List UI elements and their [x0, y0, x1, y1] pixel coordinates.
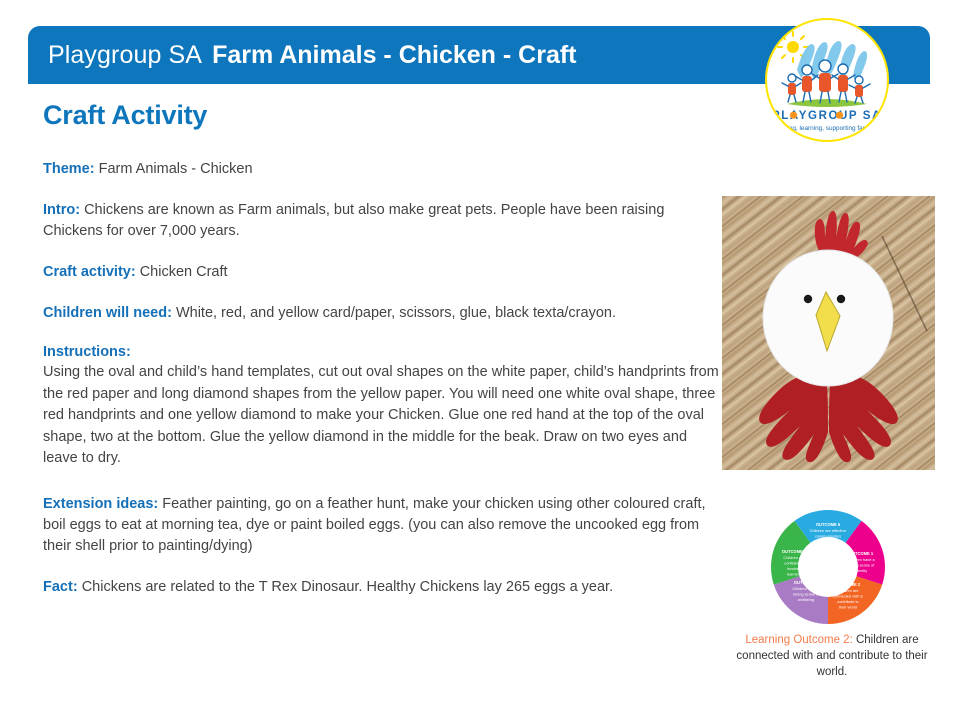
- children-will-need-value: White, red, and yellow card/paper, sciss…: [176, 305, 616, 321]
- craft-activity-value: Chicken Craft: [140, 264, 228, 280]
- craft-activity-line: Craft activity: Chicken Craft: [43, 262, 719, 283]
- wheel-label-outcome-3-line3: wellbeing: [798, 597, 814, 602]
- page-title: Craft Activity: [43, 100, 719, 131]
- wheel-label-outcome-2-line1: Children are: [837, 588, 858, 593]
- logo-dot-p: [790, 112, 797, 119]
- main-content: Craft Activity Theme: Farm Animals - Chi…: [43, 100, 719, 618]
- right-eye: [837, 295, 845, 303]
- learning-outcomes-wheel: OUTCOME 5 Children are effective communi…: [748, 508, 908, 626]
- wheel-label-outcome-2-title: OUTCOME 2: [836, 582, 861, 587]
- wheel-label-outcome-1-line1: Children have a: [847, 557, 875, 562]
- logo-dot-o: [836, 112, 843, 119]
- extension-ideas-line: Extension ideas: Feather painting, go on…: [43, 494, 719, 557]
- wheel-label-outcome-3-line2: strong sense of: [793, 592, 821, 597]
- wheel-label-outcome-1-line2: strong sense of: [848, 563, 876, 568]
- children-will-need-label: Children will need:: [43, 305, 172, 321]
- wheel-label-outcome-1-title: OUTCOME 1: [849, 551, 874, 556]
- extension-ideas-label: Extension ideas:: [43, 496, 158, 512]
- wheel-caption-accent: Learning Outcome 2:: [745, 634, 852, 646]
- brand-name: Playgroup SA: [48, 41, 202, 70]
- instructions-label: Instructions:: [43, 344, 719, 360]
- intro-label: Intro:: [43, 202, 80, 218]
- chicken-craft-artwork: [722, 196, 935, 470]
- craft-activity-label: Craft activity:: [43, 264, 136, 280]
- logo-artwork: PLAYGROUP SA Playing, learning, supporti…: [767, 20, 887, 140]
- logo-wordmark: PLAYGROUP SA: [772, 110, 882, 122]
- wheel-label-outcome-2-line3: contribute to: [837, 599, 858, 604]
- fact-label: Fact:: [43, 579, 78, 595]
- theme-line: Theme: Farm Animals - Chicken: [43, 159, 719, 180]
- fact-value: Chickens are related to the T Rex Dinosa…: [82, 579, 613, 595]
- left-eye: [804, 295, 812, 303]
- wheel-label-outcome-2-line2: connected with &: [833, 594, 863, 599]
- wheel-label-outcome-1-line3: identity: [855, 568, 867, 573]
- wheel-label-outcome-5-line1: Children are effective: [810, 528, 847, 533]
- intro-line: Intro: Chickens are known as Farm animal…: [43, 200, 719, 242]
- wheel-label-outcome-3-title: OUTCOME 3: [794, 580, 819, 585]
- logo-tagline: Playing, learning, supporting families: [775, 125, 879, 132]
- chicken-craft-photo: [722, 196, 935, 470]
- theme-value: Farm Animals - Chicken: [99, 161, 253, 177]
- fact-line: Fact: Chickens are related to the T Rex …: [43, 577, 719, 598]
- wheel-label-outcome-4-title: OUTCOME 4: [782, 549, 807, 554]
- wheel-label-outcome-5-line2: communicators: [815, 534, 841, 539]
- wheel-caption: Learning Outcome 2: Children are connect…: [726, 632, 938, 680]
- wheel-label-outcome-2-line4: their world: [839, 605, 857, 610]
- playgroup-sa-logo: PLAYGROUP SA Playing, learning, supporti…: [765, 18, 889, 142]
- theme-label: Theme:: [43, 161, 95, 177]
- wheel-label-outcome-4-line3: involved: [787, 566, 801, 571]
- children-will-need-line: Children will need: White, red, and yell…: [43, 303, 719, 324]
- wheel-label-outcome-4-line1: Children are: [783, 555, 804, 560]
- wheel-label-outcome-4-line4: learners: [787, 572, 801, 577]
- page-title-header: Farm Animals - Chicken - Craft: [212, 41, 576, 70]
- sun-icon: [787, 41, 799, 53]
- wheel-label-outcome-3-line1: Children have a: [792, 586, 820, 591]
- outcomes-donut-chart: OUTCOME 5 Children are effective communi…: [748, 508, 908, 626]
- intro-value: Chickens are known as Farm animals, but …: [43, 202, 664, 239]
- wheel-label-outcome-4-line2: confident &: [784, 561, 804, 566]
- wheel-label-outcome-5-title: OUTCOME 5: [816, 522, 841, 527]
- instructions-value: Using the oval and child’s hand template…: [43, 362, 719, 470]
